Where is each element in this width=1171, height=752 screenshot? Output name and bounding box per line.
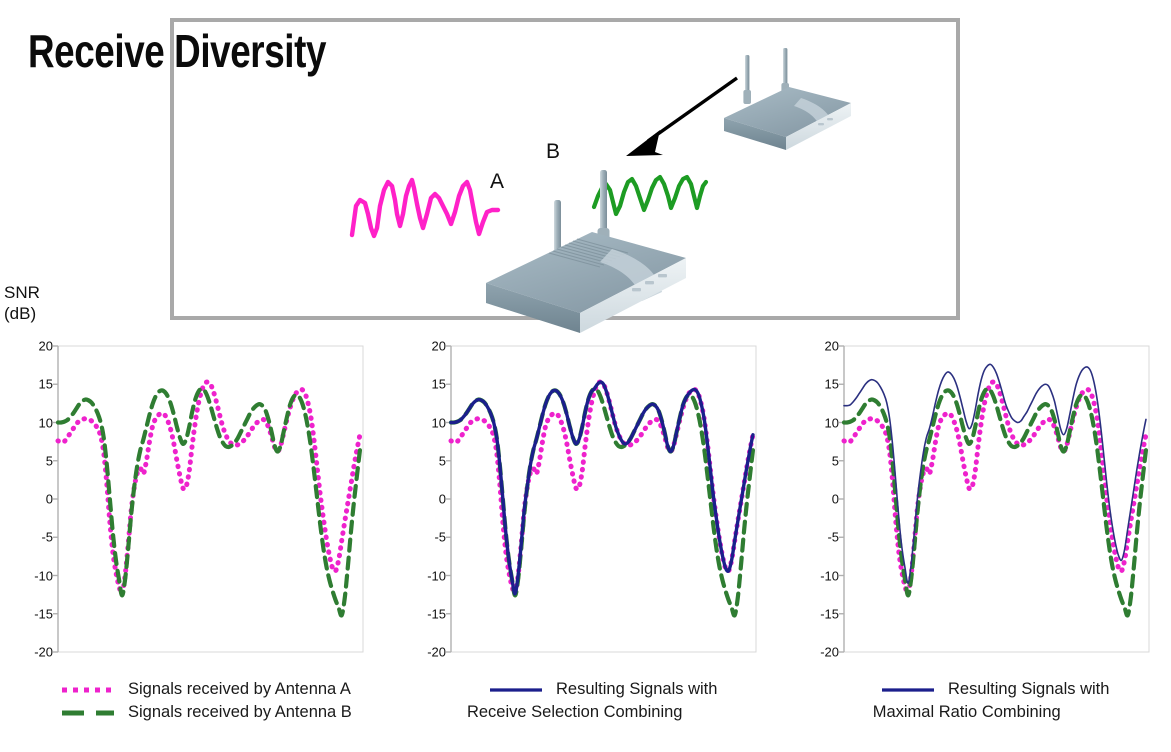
legend-swatch-solid-navy xyxy=(488,678,544,700)
y-tick-label: 0 xyxy=(832,492,839,507)
legend-selection-combining: Resulting Signals with Receive Selection… xyxy=(488,678,717,724)
y-tick-label: -15 xyxy=(34,606,53,621)
y-axis-ticks-1: 20151050-5-10-15-20 xyxy=(22,338,56,652)
legend-swatch-dashed-green xyxy=(60,701,116,723)
y-tick-label: 0 xyxy=(46,492,53,507)
y-tick-label: 15 xyxy=(432,377,446,392)
legend-label-selection-line1: Resulting Signals with xyxy=(556,680,717,698)
legend-label-antenna-a: Signals received by Antenna A xyxy=(128,678,351,701)
legend-item-mrc: Resulting Signals with xyxy=(880,678,1109,701)
y-tick-label: 5 xyxy=(439,453,446,468)
y-axis-label-line1: SNR xyxy=(4,282,40,303)
y-tick-label: 20 xyxy=(825,339,839,354)
legend-label-mrc-line1: Resulting Signals with xyxy=(948,680,1109,698)
legend-item-antenna-a: Signals received by Antenna A xyxy=(60,678,352,701)
series-line xyxy=(451,389,753,616)
legend-maximal-ratio-combining: Resulting Signals with Maximal Ratio Com… xyxy=(880,678,1109,724)
chart-antenna-signals: 20151050-5-10-15-20 xyxy=(22,338,367,673)
plot-area-1 xyxy=(22,338,367,668)
legend-label-mrc-line2: Maximal Ratio Combining xyxy=(824,701,1109,724)
series-line xyxy=(58,389,360,616)
y-axis-ticks-3: 20151050-5-10-15-20 xyxy=(808,338,842,652)
y-tick-label: -20 xyxy=(34,645,53,660)
y-tick-label: -5 xyxy=(827,530,839,545)
y-tick-label: -15 xyxy=(427,606,446,621)
legend-item-antenna-b: Signals received by Antenna B xyxy=(60,701,352,724)
y-tick-label: -10 xyxy=(34,568,53,583)
y-axis-label: SNR (dB) xyxy=(4,282,40,324)
y-tick-label: 15 xyxy=(39,377,53,392)
y-tick-label: -10 xyxy=(427,568,446,583)
y-tick-label: 10 xyxy=(432,415,446,430)
y-tick-label: -20 xyxy=(820,645,839,660)
y-axis-label-line2: (dB) xyxy=(4,303,40,324)
page-title: Receive Diversity xyxy=(28,24,326,78)
y-tick-label: -5 xyxy=(434,530,446,545)
legend-label-antenna-b: Signals received by Antenna B xyxy=(128,701,352,724)
y-tick-label: 5 xyxy=(46,453,53,468)
y-tick-label: -5 xyxy=(41,530,53,545)
y-tick-label: 15 xyxy=(825,377,839,392)
y-tick-label: -20 xyxy=(427,645,446,660)
legend-swatch-solid-navy-thin xyxy=(880,678,936,700)
legend-swatch-dotted-magenta xyxy=(60,678,116,700)
plot-area-3 xyxy=(808,338,1153,668)
y-axis-ticks-2: 20151050-5-10-15-20 xyxy=(415,338,449,652)
y-tick-label: 0 xyxy=(439,492,446,507)
plot-area-2 xyxy=(415,338,760,668)
antenna-a-label: A xyxy=(490,170,504,194)
chart-maximal-ratio-combining: 20151050-5-10-15-20 xyxy=(808,338,1153,673)
y-tick-label: -15 xyxy=(820,606,839,621)
y-tick-label: 20 xyxy=(39,339,53,354)
antenna-b-label: B xyxy=(546,140,560,164)
legend-item-selection: Resulting Signals with xyxy=(488,678,717,701)
legend-label-selection-line2: Receive Selection Combining xyxy=(432,701,717,724)
chart-selection-combining: 20151050-5-10-15-20 xyxy=(415,338,760,673)
y-tick-label: -10 xyxy=(820,568,839,583)
legend-antennas: Signals received by Antenna A Signals re… xyxy=(60,678,352,724)
y-tick-label: 20 xyxy=(432,339,446,354)
y-tick-label: 5 xyxy=(832,453,839,468)
y-tick-label: 10 xyxy=(825,415,839,430)
y-tick-label: 10 xyxy=(39,415,53,430)
